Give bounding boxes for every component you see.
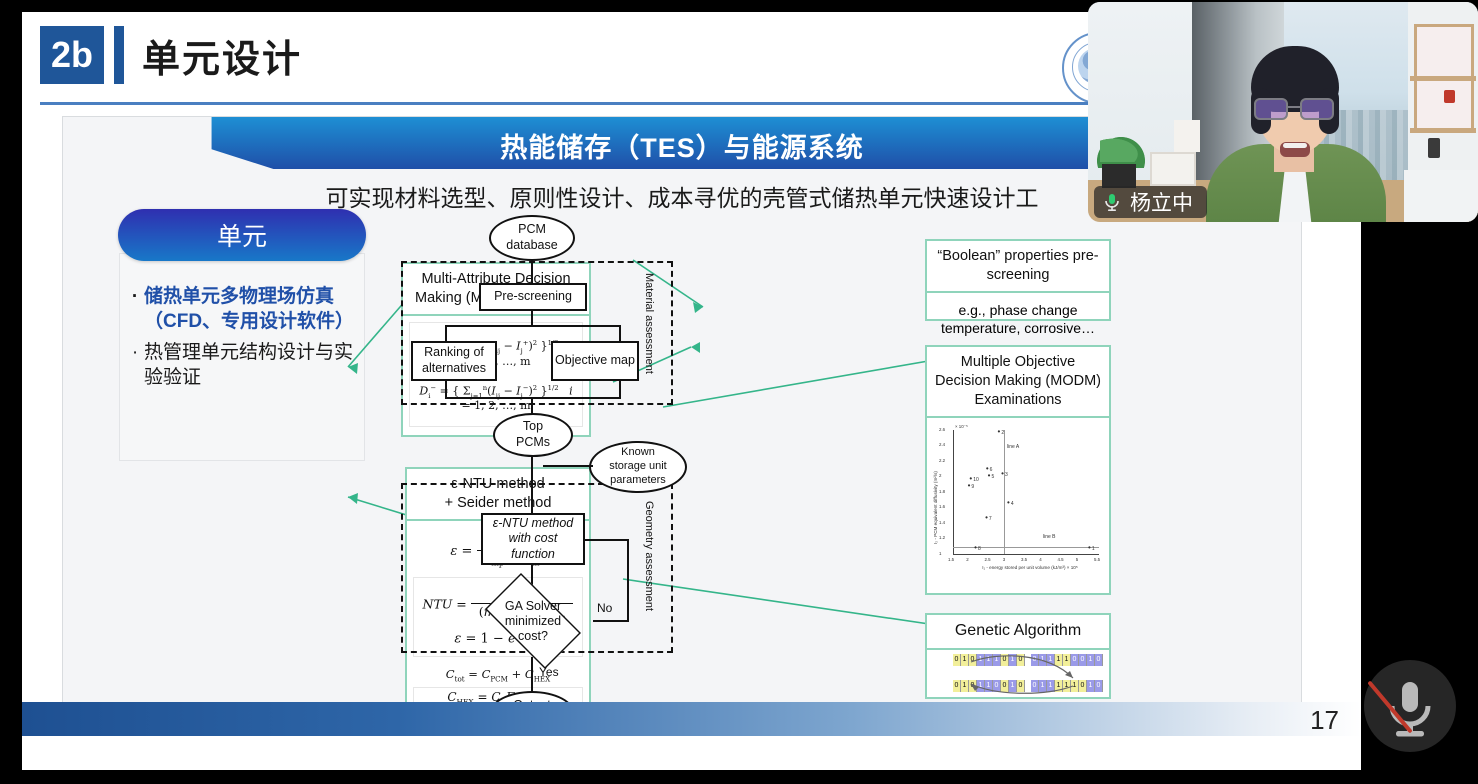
mute-toggle-button[interactable] [1364,660,1456,752]
person-glasses-left [1254,98,1288,120]
background-box [1174,120,1200,152]
chart-ytick: 1.2 [939,535,945,540]
participant-name: 杨立中 [1130,187,1193,217]
person-mouth [1280,142,1310,157]
participant-name-badge: 杨立中 [1094,186,1207,218]
page-title: 单元设计 [142,28,302,83]
chart-y-exponent: × 10⁻⁵ [955,424,968,430]
node-pcm-database-label: PCM database [506,222,557,253]
chart-ytick: 2.2 [939,458,945,463]
chart-x-axis [953,554,1099,555]
slide-header: 2b 单元设计 [40,26,302,84]
chart-ytick: 1.6 [939,504,945,509]
chart-point: 3 [1001,469,1008,478]
node-top-pcms: Top PCMs [493,413,573,457]
chart-y-axis [953,430,954,554]
scatter-chart: line A line B × 10⁻⁵ I₂ - PCM equivalent… [931,422,1105,577]
arrow-merge-bar [445,397,621,399]
node-top-pcms-label: Top PCMs [516,419,550,450]
unit-card: 单元 · 储热单元多物理场仿真（CFD、专用设计软件） · 热管理单元结构设计与… [118,209,366,461]
background-wall-panel [1428,138,1440,158]
arrow-ranking-down [445,381,447,397]
chart-point: 5 [988,471,995,480]
edge-label-yes: Yes [539,665,559,679]
bullet-dot: · [126,340,144,390]
chart-point: 2 [998,427,1005,436]
node-entu-cost-function: ε-NTU method with cost function [481,513,585,565]
chart-ytick: 1 [939,551,941,556]
callout-modm-body: line A line B × 10⁻⁵ I₂ - PCM equivalent… [927,418,1109,581]
callout-genetic-algorithm: Genetic Algorithm 010111010 011110010 01… [925,613,1111,699]
node-ga-solver-label: GA Solver minimized cost? [473,585,593,657]
group-label-material: Material assessment [643,273,655,374]
chart-point: 8 [974,543,981,552]
process-flowchart: Material assessment Geometry assessment … [393,213,693,693]
callout-modm: Multiple Objective Decision Making (MODM… [925,345,1111,595]
list-item: · 热管理单元结构设计与实验验证 [126,340,354,390]
callout-boolean-body: e.g., phase change temperature, corrosiv… [927,293,1109,343]
arrow-split-bar [445,325,621,327]
chart-xtick: 4.5 [1058,557,1064,562]
unit-bullet-text: 储热单元多物理场仿真（CFD、专用设计软件） [144,284,354,334]
list-item: · 储热单元多物理场仿真（CFD、专用设计软件） [126,284,354,334]
chart-xtick: 2.5 [985,557,991,562]
background-shelf-board [1410,128,1476,133]
chart-ytick: 1.8 [939,489,945,494]
chart-xtick: 5 [1076,557,1078,562]
chart-ytick: 1.4 [939,520,945,525]
chart-xtick: 2 [966,557,968,562]
background-plant-pot [1102,164,1136,188]
arrow-to-objective-map [619,325,621,341]
chart-annotation-line-a: line A [1007,444,1019,450]
chart-point: 10 [969,474,978,483]
chart-xtick: 5.5 [1094,557,1100,562]
bullet-dot: · [126,284,144,334]
person-glasses-bridge [1288,106,1300,108]
node-ranking-of-alternatives: Ranking of alternatives [411,341,497,381]
chart-annotation-line-b: line B [1043,534,1056,540]
node-known-storage-parameters: Known storage unit parameters [589,441,687,493]
chart-xtick: 3 [1003,557,1005,562]
node-pre-screening-label: Pre-screening [494,289,572,305]
chart-xlabel: I₁ - energy stored per unit volume (kJ/m… [965,565,1095,570]
arrow-prescreening-split [531,311,533,325]
chart-line-a [1004,430,1005,554]
ga-crossover-arrows [927,650,1113,698]
unit-card-pill: 单元 [118,209,366,261]
arrow-top-pcms-down [531,457,533,513]
unit-card-body: · 储热单元多物理场仿真（CFD、专用设计软件） · 热管理单元结构设计与实验验… [119,253,365,461]
participant-video-tile[interactable]: 杨立中 [1088,2,1478,222]
arrow-pcm-to-prescreening [531,261,533,283]
background-shelf-board [1410,76,1476,81]
chart-ytick: 2 [939,473,941,478]
edge-label-no: No [597,601,612,615]
chart-point: 6 [986,464,993,473]
chart-xtick: 1.5 [948,557,954,562]
callout-modm-title: Multiple Objective Decision Making (MODM… [927,347,1109,418]
chart-point: 1 [1088,543,1095,552]
background-plant-leaves [1100,136,1142,162]
node-objective-map-label: Objective map [555,353,635,369]
node-entu-label: ε-NTU method with cost function [493,516,574,563]
screen-root: 2b 单元设计 热能储存（TES）与能源系统 可实现材料选型、原则性设计、成本寻… [0,0,1478,784]
node-pre-screening: Pre-screening [479,283,587,311]
chart-ytick: 2.6 [939,427,945,432]
chart-xtick: 3.5 [1021,557,1027,562]
chart-ylabel: I₂ - PCM equivalent diffusivity (m²/s) [933,444,938,544]
background-cabinet [1404,170,1478,222]
node-pcm-database: PCM database [489,215,575,261]
arrow-objmap-down [619,381,621,397]
slide-footer-bar [22,702,1361,736]
background-picture-frame [1150,152,1196,186]
microphone-active-icon [1102,192,1122,212]
chart-point: 7 [985,513,992,522]
arrow-no-branch-right [593,620,629,622]
node-known-params-label: Known storage unit parameters [609,446,666,487]
background-toy-horse [1444,90,1455,103]
arrow-no-branch-back [585,539,629,541]
group-label-geometry: Geometry assessment [643,501,655,611]
chart-point: 9 [968,481,975,490]
chart-xtick: 4 [1039,557,1041,562]
callout-ga-title: Genetic Algorithm [927,615,1109,650]
arrow-to-ranking [445,325,447,341]
arrow-known-to-main [543,465,593,467]
callout-boolean: “Boolean” properties pre-screening e.g.,… [925,239,1111,321]
callout-boolean-title: “Boolean” properties pre-screening [927,241,1109,293]
chart-point: 4 [1007,498,1014,507]
microphone-muted-icon [1364,660,1456,752]
unit-bullet-text: 热管理单元结构设计与实验验证 [144,340,354,390]
arrow-no-branch-up [627,539,629,622]
chapter-badge: 2b [40,26,104,84]
slide-page-number: 17 [1310,705,1339,736]
node-ga-solver-decision: GA Solver minimized cost? [473,585,593,657]
node-objective-map: Objective map [551,341,639,381]
chart-ytick: 2.4 [939,442,945,447]
node-ranking-label: Ranking of alternatives [422,345,486,376]
callout-ga-body: 010111010 011110010 010110010 011111010 [927,650,1109,710]
person-glasses-right [1300,98,1334,120]
arrow-yes-to-output [531,657,533,693]
header-divider-mark [114,26,124,84]
